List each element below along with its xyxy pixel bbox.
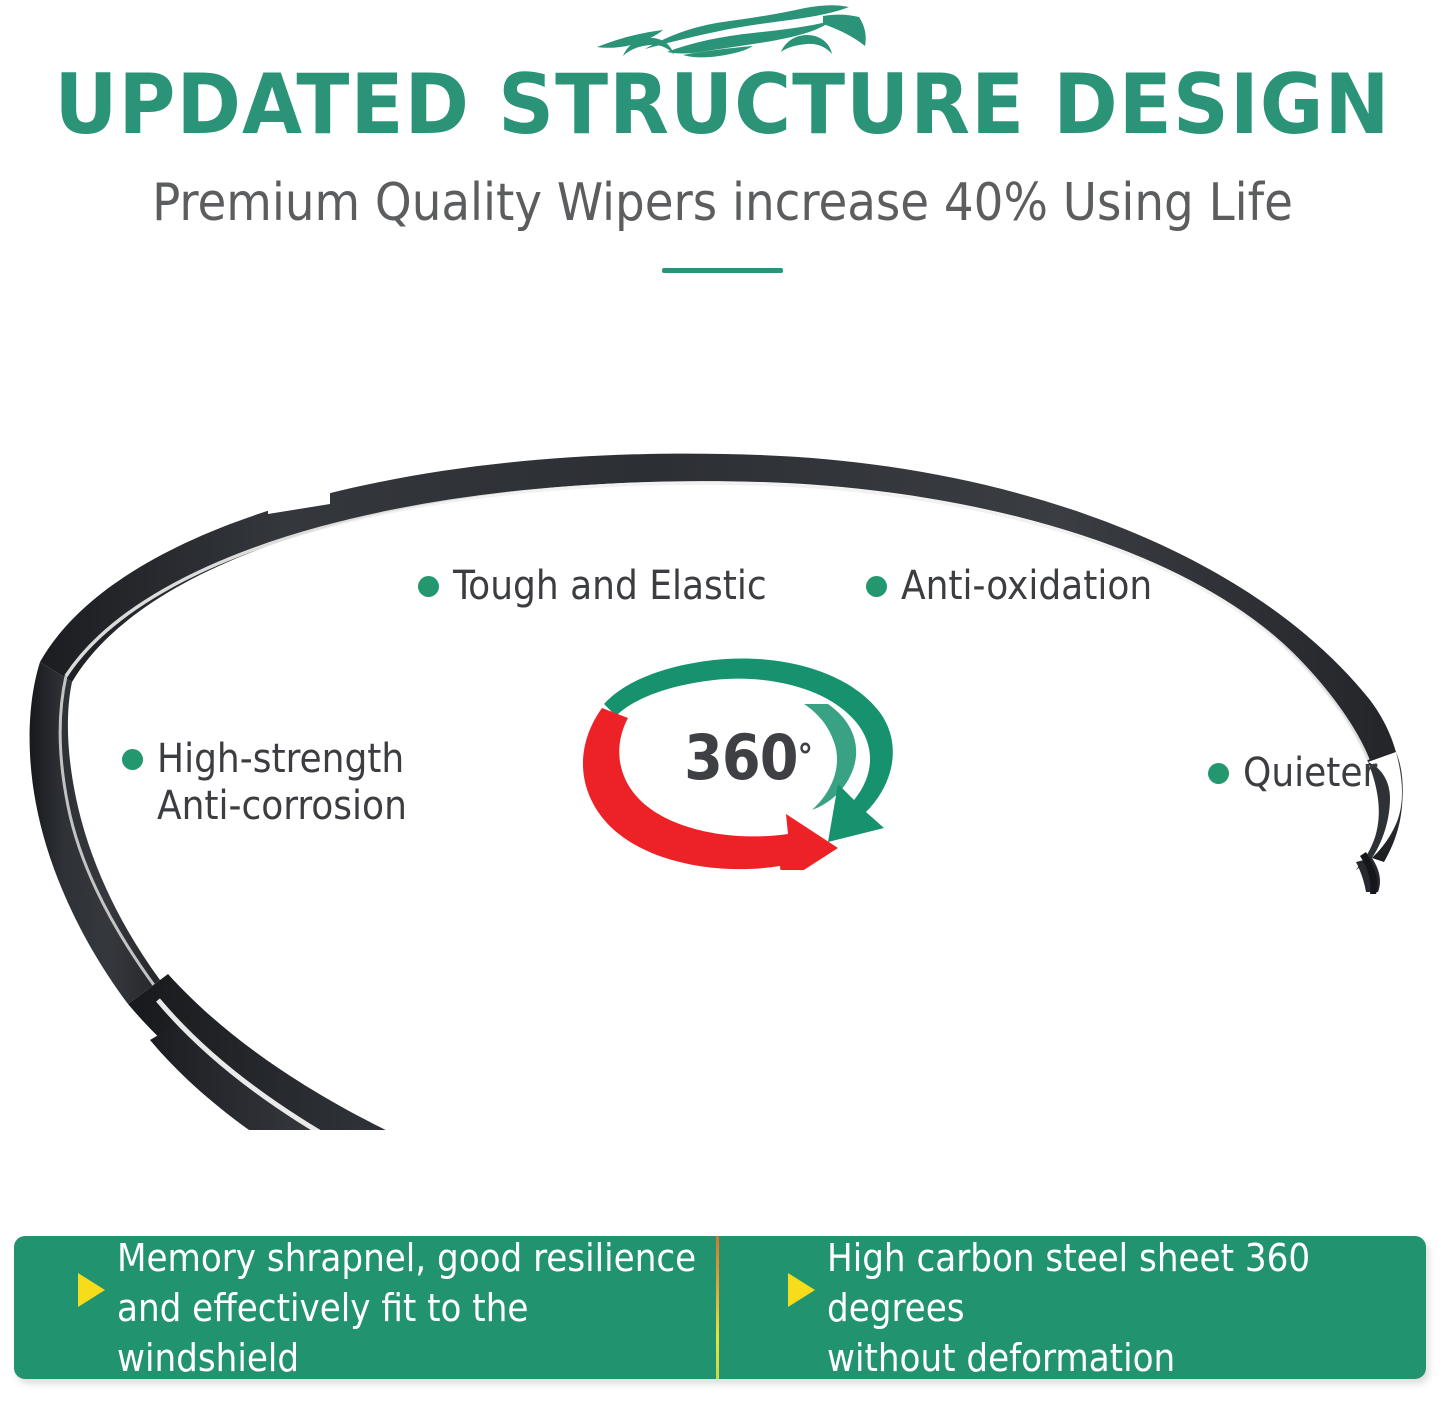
page-title: UPDATED STRUCTURE DESIGN [0, 62, 1445, 148]
bottom-feature-banner: Memory shrapnel, good resilience and eff… [14, 1236, 1426, 1379]
feature-callout-quieter: Quieter [1208, 750, 1377, 797]
triangle-bullet-icon [78, 1273, 105, 1307]
banner-item-memory-shrapnel: Memory shrapnel, good resilience and eff… [14, 1236, 720, 1379]
banner-text-line2: and effectively fit to the windshield [117, 1283, 700, 1383]
feature-label-group: High-strength Anti-corrosion [157, 736, 407, 830]
product-feature-infographic: UPDATED STRUCTURE DESIGN Premium Quality… [0, 0, 1445, 1421]
banner-text-group: Memory shrapnel, good resilience and eff… [117, 1233, 700, 1383]
rotation-arrows-icon [566, 652, 918, 870]
page-subtitle: Premium Quality Wipers increase 40% Usin… [0, 172, 1445, 234]
feature-label-line2: Anti-corrosion [157, 783, 407, 830]
bullet-dot-icon [122, 749, 143, 770]
banner-text-group: High carbon steel sheet 360 degrees with… [827, 1233, 1406, 1383]
feature-callout-tough-elastic: Tough and Elastic [418, 563, 767, 610]
banner-text-line1: Memory shrapnel, good resilience [117, 1233, 700, 1283]
bullet-dot-icon [418, 576, 439, 597]
triangle-bullet-icon [788, 1273, 815, 1307]
banner-item-high-carbon-steel: High carbon steel sheet 360 degrees with… [720, 1236, 1426, 1379]
feature-callout-anti-oxidation: Anti-oxidation [866, 563, 1152, 610]
feature-label: Quieter [1243, 750, 1377, 797]
banner-divider [716, 1236, 719, 1379]
car-silhouette-icon [583, 2, 877, 60]
title-divider [662, 268, 783, 273]
feature-label: Tough and Elastic [453, 563, 767, 610]
feature-label-line1: High-strength [157, 736, 407, 783]
feature-label: Anti-oxidation [901, 563, 1152, 610]
banner-text-line1: High carbon steel sheet 360 degrees [827, 1233, 1406, 1333]
feature-callout-high-strength: High-strength Anti-corrosion [122, 736, 407, 830]
bullet-dot-icon [866, 576, 887, 597]
bullet-dot-icon [1208, 763, 1229, 784]
badge-360-degrees: 360° [566, 652, 918, 870]
banner-text-line2: without deformation [827, 1333, 1406, 1383]
